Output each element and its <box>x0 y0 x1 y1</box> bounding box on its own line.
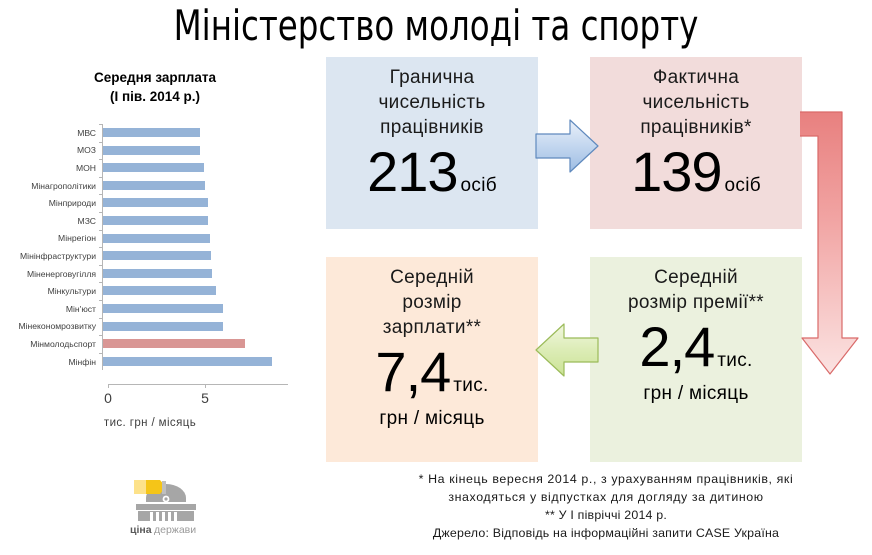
chart-title: Середня зарплата (I пів. 2014 р.) <box>0 62 310 106</box>
stat-valueline: 2,4тис. <box>590 319 802 375</box>
stat-heading: Середній розмір премії** <box>590 265 802 315</box>
chart-bar-label: Мінфін <box>0 357 102 367</box>
chart-bar-row: Мінмолодьспорт <box>0 335 310 353</box>
stat-box-actual-headcount: Фактична чисельність працівників* 139осі… <box>590 57 802 229</box>
chart-axis-tick-label: 5 <box>201 390 209 406</box>
chart-bar-row: Мінінфраструктури <box>0 247 310 265</box>
stat-valueline: 7,4тис. <box>326 344 538 400</box>
stat-unit: тис. <box>450 375 488 396</box>
chart-bar <box>103 304 223 313</box>
chart-bar-track <box>102 159 310 177</box>
footnotes: * На кінець вересня 2014 р., з урахуванн… <box>340 470 872 542</box>
chart-bar <box>103 128 200 137</box>
chart-bar-track <box>102 335 310 353</box>
chart-bar-row: Мінприроди <box>0 194 310 212</box>
chart-bar-track <box>102 230 310 248</box>
arrow-right-blue-icon <box>534 114 600 178</box>
stat-unit: осіб <box>722 175 761 196</box>
stat-box-limit-headcount: Гранична чисельність працівників 213осіб <box>326 57 538 229</box>
svg-text:держави: держави <box>154 524 196 536</box>
chart-bar <box>103 198 208 207</box>
page-title: Міністерство молоді та спорту <box>61 2 811 50</box>
chart-bar-label: МОН <box>0 163 102 173</box>
stat-valueline: 139осіб <box>590 144 802 200</box>
chart-bar-label: Мінрегіон <box>0 233 102 243</box>
chart-bar-track <box>102 177 310 195</box>
chart-bar-track <box>102 282 310 300</box>
chart-plot-area: МВСМОЗМОНМінагрополітикиМінприродиМЗСМін… <box>0 124 310 384</box>
chart-bar-row: Мін'юст <box>0 300 310 318</box>
chart-bar-label: Мінмолодьспорт <box>0 339 102 349</box>
chart-bar-label: Мінінфраструктури <box>0 251 102 261</box>
chart-bar-track <box>102 265 310 283</box>
stat-heading: Фактична чисельність працівників* <box>590 65 802 140</box>
chart-axis-tick-label: 0 <box>104 390 112 406</box>
arrow-left-green-icon <box>534 318 600 382</box>
stat-number: 213 <box>367 140 457 203</box>
chart-bar-label: Мін'юст <box>0 304 102 314</box>
chart-bar <box>103 286 216 295</box>
chart-x-axis-line <box>108 384 288 385</box>
chart-bar-track <box>102 353 310 371</box>
chart-bar-track <box>102 142 310 160</box>
chart-bar <box>103 163 204 172</box>
chart-bar-track <box>102 318 310 336</box>
footnote-asterisk-line1: * На кінець вересня 2014 р., з урахуванн… <box>340 470 872 488</box>
chart-bar <box>103 269 212 278</box>
chart-bar-row: Мінрегіон <box>0 230 310 248</box>
chart-bar-row: Мінкультури <box>0 282 310 300</box>
chart-bar-row: МОЗ <box>0 142 310 160</box>
chart-bar-row: МОН <box>0 159 310 177</box>
chart-bar-label: Міненерговугілля <box>0 269 102 279</box>
stat-subunit: грн / місяць <box>590 383 802 405</box>
footnote-source: Джерело: Відповідь на інформаційні запит… <box>340 524 872 542</box>
chart-bar <box>103 322 223 331</box>
chart-bar-label: Мінагрополітики <box>0 181 102 191</box>
chart-bar-track <box>102 124 310 142</box>
stat-heading: Середній розмір зарплати** <box>326 265 538 340</box>
stat-box-average-salary: Середній розмір зарплати** 7,4тис. грн /… <box>326 257 538 462</box>
chart-bar-row: Мінфін <box>0 353 310 371</box>
chart-x-axis-title: тис. грн / місяць <box>0 417 300 429</box>
footnote-double-asterisk: ** У I півріччі 2014 р. <box>340 506 872 524</box>
logo-tsina-derzhavy: ціна держави <box>126 478 206 540</box>
logo-wordmark: ціна держави <box>130 524 196 536</box>
stat-number: 2,4 <box>639 315 714 378</box>
chart-bar-label: МЗС <box>0 216 102 226</box>
arrow-bent-down-red-icon <box>800 110 872 378</box>
chart-bar <box>103 251 211 260</box>
stat-number: 139 <box>631 140 721 203</box>
chart-bar-track <box>102 300 310 318</box>
chart-bar-label: МОЗ <box>0 145 102 155</box>
chart-bar <box>103 216 208 225</box>
chart-bar <box>103 339 245 348</box>
chart-bar-label: Мінекономрозвитку <box>0 321 102 331</box>
logo-building-icon <box>134 480 196 521</box>
chart-bar-track <box>102 247 310 265</box>
chart-bar <box>103 181 205 190</box>
stat-unit: тис. <box>714 350 752 371</box>
stat-valueline: 213осіб <box>326 144 538 200</box>
stat-unit: осіб <box>458 175 497 196</box>
chart-bar <box>103 357 272 366</box>
chart-bar <box>103 146 200 155</box>
chart-bar-label: Мінприроди <box>0 198 102 208</box>
stat-subunit: грн / місяць <box>326 408 538 430</box>
chart-bar <box>103 234 210 243</box>
chart-axis-tick <box>108 384 109 388</box>
stat-number: 7,4 <box>375 340 450 403</box>
chart-axis-tick <box>205 384 206 388</box>
chart-bar-label: МВС <box>0 128 102 138</box>
chart-bar-row: Міненерговугілля <box>0 265 310 283</box>
chart-bar-row: МЗС <box>0 212 310 230</box>
chart-bar-track <box>102 194 310 212</box>
stat-box-average-bonus: Середній розмір премії** 2,4тис. грн / м… <box>590 257 802 462</box>
footnote-asterisk-line2: знаходяться у відпустках для догляду за … <box>340 488 872 506</box>
svg-text:ціна: ціна <box>130 524 152 536</box>
chart-bar-row: Мінагрополітики <box>0 177 310 195</box>
chart-bar-row: МВС <box>0 124 310 142</box>
salary-bar-chart: Середня зарплата (I пів. 2014 р.) МВСМОЗ… <box>0 62 310 442</box>
chart-bar-label: Мінкультури <box>0 286 102 296</box>
chart-bar-row: Мінекономрозвитку <box>0 318 310 336</box>
chart-bar-track <box>102 212 310 230</box>
stat-heading: Гранична чисельність працівників <box>326 65 538 140</box>
